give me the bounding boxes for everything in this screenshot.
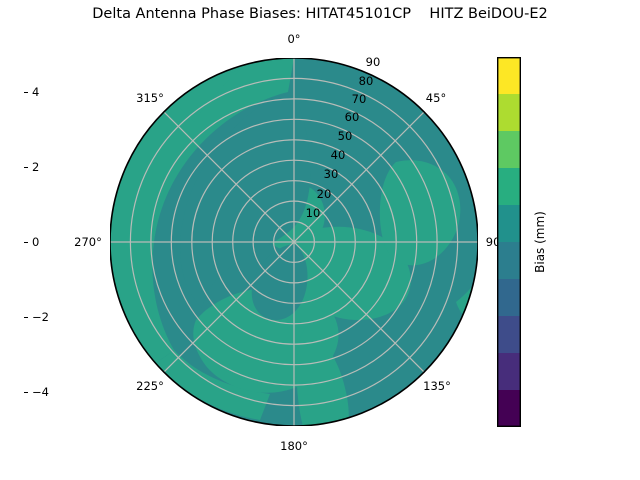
colorbar-band-1 [497, 390, 521, 427]
colorbar-band-10 [497, 57, 521, 94]
figure-canvas: Delta Antenna Phase Biases: HITAT45101CP… [0, 0, 640, 480]
colorbar-band-5 [497, 242, 521, 279]
colorbar-tickmark-m2 [24, 317, 28, 318]
r-tick-label-70: 70 [352, 92, 367, 106]
colorbar-swatches [497, 57, 521, 427]
colorbar-band-7 [497, 168, 521, 205]
theta-tick-label-180: 180° [280, 439, 308, 453]
colorbar-band-group [497, 57, 521, 427]
theta-tick-label-0: 0° [287, 32, 300, 46]
r-tick-label-60: 60 [345, 110, 360, 124]
page-title: Delta Antenna Phase Biases: HITAT45101CP… [0, 6, 640, 22]
colorbar-band-4 [497, 279, 521, 316]
r-tick-label-10: 10 [306, 206, 321, 220]
colorbar-tick-label-2: 2 [32, 160, 39, 174]
colorbar-band-3 [497, 316, 521, 353]
r-tick-label-80: 80 [359, 74, 374, 88]
r-tick-label-30: 30 [324, 167, 339, 181]
polar-grid [110, 58, 478, 426]
theta-tick-label-45: 45° [426, 91, 446, 105]
colorbar-tickmark-2 [24, 167, 28, 168]
colorbar-tick-label-4: 4 [32, 85, 39, 99]
colorbar-axis-label: Bias (mm) [533, 211, 547, 273]
theta-tick-label-315: 315° [136, 91, 164, 105]
colorbar [497, 57, 521, 427]
colorbar-band-9 [497, 94, 521, 131]
polar-contour-svg [110, 58, 478, 426]
polar-plot [110, 58, 478, 426]
theta-tick-label-225: 225° [136, 379, 164, 393]
theta-tick-label-135: 135° [423, 379, 451, 393]
colorbar-tick-label-m2: −2 [32, 310, 49, 324]
r-tick-label-40: 40 [331, 148, 346, 162]
colorbar-tickmark-m4 [24, 392, 28, 393]
colorbar-band-2 [497, 353, 521, 390]
colorbar-tick-label-0: 0 [32, 235, 39, 249]
r-tick-label-90: 90 [366, 55, 381, 69]
colorbar-band-6 [497, 205, 521, 242]
colorbar-tickmark-0 [24, 242, 28, 243]
theta-tick-label-270: 270° [74, 235, 102, 249]
colorbar-tickmark-4 [24, 92, 28, 93]
colorbar-band-8 [497, 131, 521, 168]
r-tick-label-50: 50 [338, 129, 353, 143]
r-tick-label-20: 20 [317, 187, 332, 201]
colorbar-tick-label-m4: −4 [32, 385, 49, 399]
